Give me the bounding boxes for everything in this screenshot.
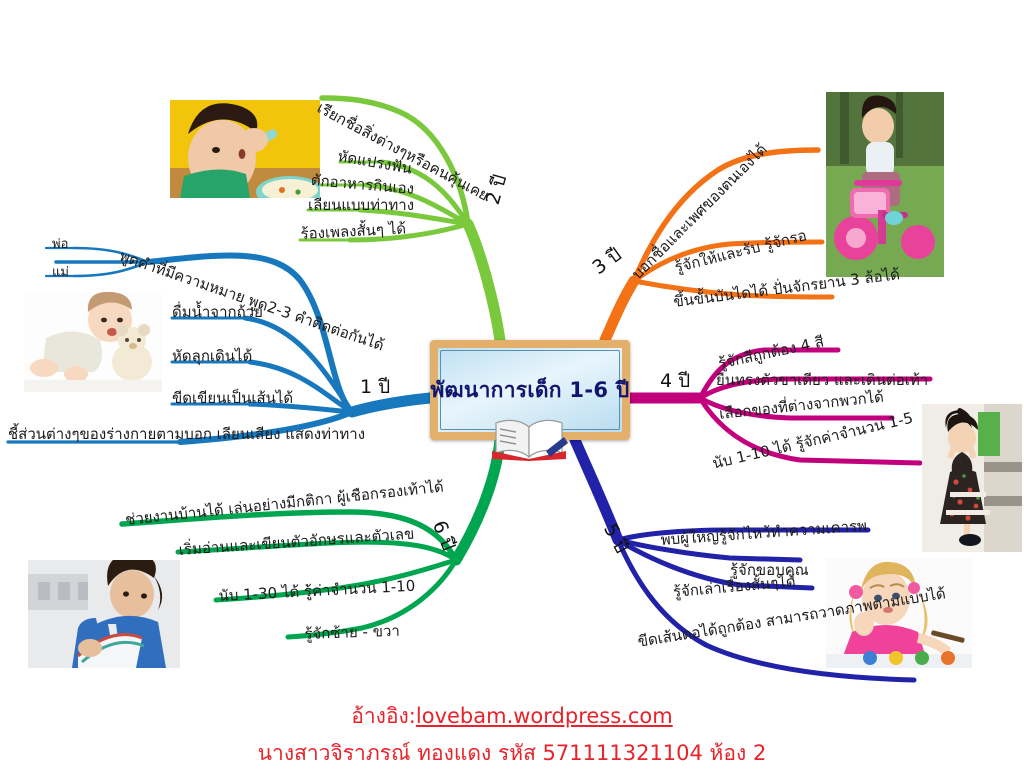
item-year4-2: ยืนทรงตัวขาเดียว และเดินต่อเท้า xyxy=(716,368,928,392)
item-year1-2: ดื่มน้ำจากถ้วย xyxy=(172,300,263,324)
reference-line: อ้างอิง:lovebam.wordpress.com xyxy=(0,700,1024,733)
photo-baby-crawling xyxy=(24,292,162,392)
photo-boy-reading xyxy=(28,560,180,668)
photo-girl-tricycle xyxy=(826,92,944,277)
reference-url[interactable]: lovebam.wordpress.com xyxy=(416,704,673,728)
mindmap-canvas: พัฒนาการเด็ก 1-6 ปี 1 ปี 2 ปี 3 ปี 4 ปี … xyxy=(0,0,1024,768)
year-label-1: 1 ปี xyxy=(360,372,390,402)
item-year1-4: ขีดเขียนเป็นเส้นได้ xyxy=(172,386,293,410)
page-title: พัฒนาการเด็ก 1-6 ปี xyxy=(431,374,630,407)
item-year1-1-sub-1: พ่อ xyxy=(52,233,68,254)
photo-girl-dress xyxy=(922,404,1022,552)
author-line: นางสาวจิราภรณ์ ทองแดง รหัส 571111321104 … xyxy=(0,737,1024,770)
item-year2-4: เลียนแบบท่าทาง xyxy=(308,193,414,217)
item-year6-4: รู้จักซ้าย - ขวา xyxy=(304,619,400,646)
year-label-4: 4 ปี xyxy=(660,366,690,396)
footer: อ้างอิง:lovebam.wordpress.com นางสาวจิรา… xyxy=(0,700,1024,770)
photo-toddler-eating xyxy=(170,100,320,198)
open-book-icon xyxy=(490,415,568,461)
item-year1-5: ชี้ส่วนต่างๆของร่างกายตามบอก เลียนเสียง … xyxy=(8,422,365,446)
item-year1-1-sub-2: แม่ xyxy=(52,261,69,282)
reference-prefix: อ้างอิง: xyxy=(351,704,416,728)
item-year1-3: หัดลุกเดินได้ xyxy=(172,344,252,368)
